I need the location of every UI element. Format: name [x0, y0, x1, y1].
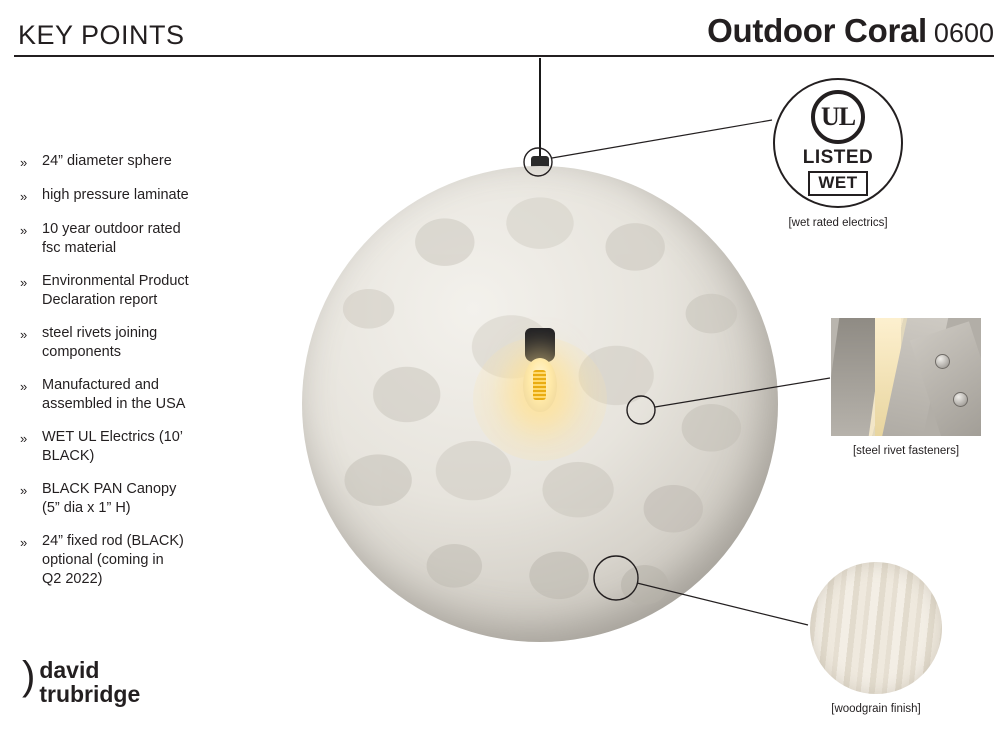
- brand-logo: ) david trubridge: [22, 658, 140, 706]
- bullet-icon: »: [20, 272, 42, 292]
- bullet-icon: »: [20, 186, 42, 206]
- callout-caption-wet-rated: [wet rated electrics]: [753, 217, 923, 229]
- logo-wordmark: david trubridge: [39, 658, 140, 706]
- bullet-icon: »: [20, 152, 42, 172]
- callout-woodgrain-finish: [woodgrain finish]: [810, 562, 966, 715]
- list-item-label: high pressure laminate: [42, 186, 189, 205]
- steel-rivet-photo: [831, 318, 981, 436]
- list-item: » Manufactured and assembled in the USA: [20, 376, 280, 414]
- header-divider: [14, 55, 994, 57]
- list-item-label: Environmental Product Declaration report: [42, 272, 189, 310]
- bullet-icon: »: [20, 220, 42, 240]
- list-item-label: WET UL Electrics (10’ BLACK): [42, 428, 183, 466]
- page-title: KEY POINTS: [18, 20, 185, 51]
- bullet-icon: »: [20, 376, 42, 396]
- bullet-icon: »: [20, 324, 42, 344]
- product-title: Outdoor Coral0600: [707, 12, 994, 50]
- product-name: Outdoor Coral: [707, 12, 927, 49]
- list-item-label: 24” fixed rod (BLACK) optional (coming i…: [42, 532, 184, 589]
- woodgrain-swatch: [810, 562, 942, 694]
- list-item-label: 24” diameter sphere: [42, 152, 172, 171]
- list-item: » 24” diameter sphere: [20, 152, 280, 172]
- callout-steel-rivet-fasteners: [steel rivet fasteners]: [831, 318, 991, 457]
- logo-mark-icon: ): [22, 656, 35, 696]
- list-item: » Environmental Product Declaration repo…: [20, 272, 280, 310]
- bulb-filament: [533, 370, 546, 400]
- key-points-list: » 24” diameter sphere » high pressure la…: [20, 152, 280, 603]
- list-item: » 10 year outdoor rated fsc material: [20, 220, 280, 258]
- list-item-label: steel rivets joining components: [42, 324, 157, 362]
- product-image: [280, 58, 710, 698]
- ul-listed-label: LISTED: [803, 147, 874, 169]
- bullet-icon: »: [20, 428, 42, 448]
- list-item-label: BLACK PAN Canopy (5” dia x 1” H): [42, 480, 176, 518]
- list-item: » WET UL Electrics (10’ BLACK): [20, 428, 280, 466]
- list-item: » BLACK PAN Canopy (5” dia x 1” H): [20, 480, 280, 518]
- list-item-label: Manufactured and assembled in the USA: [42, 376, 185, 414]
- cord-upper: [539, 58, 541, 168]
- rivet-icon: [935, 354, 950, 369]
- document-page: KEY POINTS Outdoor Coral0600 » 24” diame…: [0, 0, 1008, 754]
- list-item: » 24” fixed rod (BLACK) optional (coming…: [20, 532, 280, 589]
- list-item-label: 10 year outdoor rated fsc material: [42, 220, 181, 258]
- callout-caption-woodgrain: [woodgrain finish]: [786, 703, 966, 715]
- callout-caption-steel-rivet: [steel rivet fasteners]: [821, 445, 991, 457]
- list-item: » steel rivets joining components: [20, 324, 280, 362]
- bullet-icon: »: [20, 480, 42, 500]
- bullet-icon: »: [20, 532, 42, 552]
- rivet-icon: [953, 392, 968, 407]
- list-item: » high pressure laminate: [20, 186, 280, 206]
- ul-mark-icon: UL: [811, 90, 865, 144]
- product-code: 0600: [934, 18, 994, 48]
- ul-listed-wet-badge: UL LISTED WET: [773, 78, 903, 208]
- callout-wet-rated-electrics: UL LISTED WET [wet rated electrics]: [773, 78, 923, 229]
- lamp-socket: [525, 328, 555, 362]
- ul-wet-label: WET: [808, 171, 867, 196]
